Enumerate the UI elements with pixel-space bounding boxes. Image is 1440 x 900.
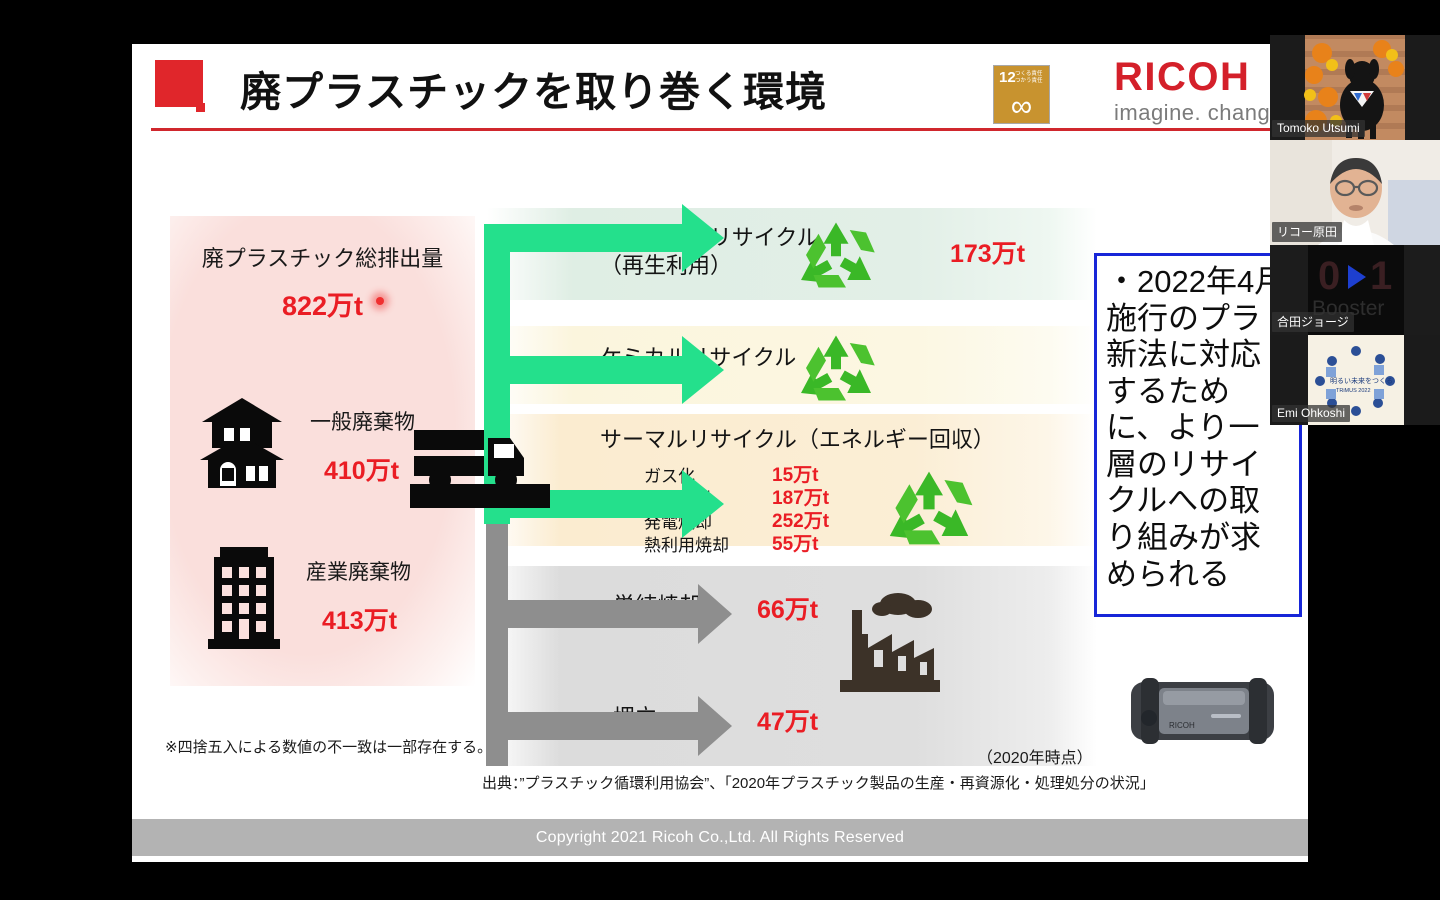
municipal-waste-value: 410万t (324, 451, 399, 487)
ricoh-wordmark: RICOH (1114, 56, 1290, 98)
svg-text:TRiMUS 2022: TRiMUS 2022 (1336, 388, 1371, 394)
ricoh-tagline: imagine. change. (1114, 100, 1290, 126)
truck-icon (410, 422, 550, 514)
thermal-sub-value: 55万t (772, 529, 818, 556)
industrial-waste-label: 産業廃棄物 (306, 556, 411, 586)
ricoh-logo: RICOH imagine. change. (1114, 56, 1290, 126)
page-title: 廃プラスチックを取り巻く環境 (240, 58, 827, 118)
rounding-note: ※四捨五入による数値の不一致は一部存在する。 (165, 736, 492, 757)
source-panel-title: 廃プラスチック総排出量 (170, 241, 475, 273)
municipal-waste-label: 一般廃棄物 (310, 406, 415, 436)
participant-tile[interactable]: リコー原田 (1270, 140, 1440, 245)
landfill-value: 47万t (757, 702, 818, 738)
infinity-icon: ∞ (994, 92, 1049, 122)
recycle-icon (884, 466, 974, 550)
source-note: 出典：”プラスチック循環利用協会”、「2020年プラスチック製品の生産・再資源化… (482, 772, 1155, 793)
sdg-number: 12 (999, 70, 1016, 85)
svg-text:1: 1 (1370, 254, 1392, 298)
svg-text:RICOH: RICOH (1169, 721, 1195, 730)
screen: 廃プラスチックを取り巻く環境 12 つくる責任 つかう責任 ∞ RICOH im… (0, 0, 1440, 900)
recycle-icon (796, 217, 876, 293)
source-total-value: 822万t (170, 284, 475, 323)
industrial-waste-value: 413万t (322, 601, 397, 637)
participant-tile[interactable]: Tomoko Utsumi (1270, 35, 1440, 140)
factory-icon (832, 588, 944, 698)
participant-name: 合田ジョージ (1272, 312, 1354, 332)
recycle-icon (796, 330, 876, 406)
slide-footer: Copyright 2021 Ricoh Co.,Ltd. All Rights… (132, 819, 1308, 856)
ricoh-red-square-icon (155, 60, 203, 107)
title-underline (151, 128, 1286, 131)
svg-text:明るい未来をつくる: 明るい未来をつくる (1330, 376, 1393, 385)
as-of-note: （2020年時点） (977, 744, 1093, 768)
house-icon (198, 396, 286, 490)
building-icon (208, 541, 280, 651)
sdg-label: つくる責任 つかう責任 (1015, 71, 1043, 86)
laser-pointer-dot (376, 297, 384, 305)
participant-name: リコー原田 (1272, 222, 1342, 242)
participant-tile[interactable]: 0 1 Booster 合田ジョージ (1270, 245, 1440, 335)
ricoh-device-photo: RICOH (1125, 660, 1280, 760)
participant-tile[interactable]: 明るい未来をつくる TRiMUS 2022 Emi Ohkoshi (1270, 335, 1440, 425)
sdg-goal-12-icon: 12 つくる責任 つかう責任 ∞ (993, 65, 1050, 124)
participant-name: Tomoko Utsumi (1272, 120, 1365, 137)
simple-incineration-value: 66万t (757, 590, 818, 626)
participant-name: Emi Ohkoshi (1272, 405, 1350, 422)
svg-text:0: 0 (1318, 254, 1340, 298)
video-participants-sidebar: Tomoko Utsumi リコー原田 (1270, 35, 1440, 425)
material-recycle-value: 173万t (950, 234, 1025, 270)
